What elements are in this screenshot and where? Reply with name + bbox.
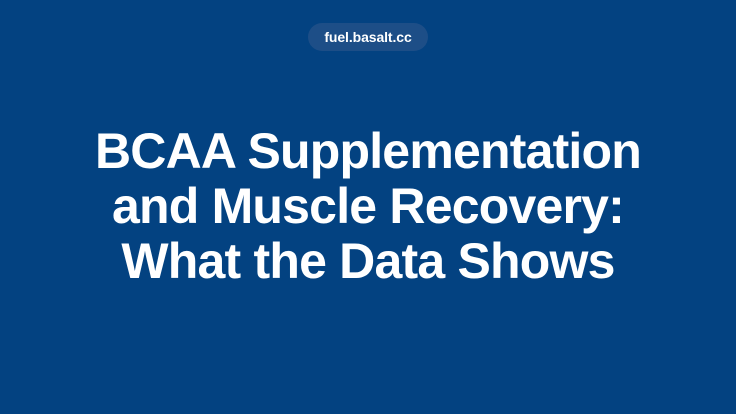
page-title-line-1: BCAA Supplementation: [88, 124, 648, 179]
page-title-line-2: and Muscle Recovery:: [88, 179, 648, 234]
headline-wrap: BCAA Supplementation and Muscle Recovery…: [0, 124, 736, 289]
badge-row: fuel.basalt.cc: [0, 23, 736, 51]
title-card: fuel.basalt.cc BCAA Supplementation and …: [0, 0, 736, 414]
source-domain-badge[interactable]: fuel.basalt.cc: [308, 23, 427, 51]
page-title: BCAA Supplementation and Muscle Recovery…: [88, 124, 648, 289]
page-title-line-3: What the Data Shows: [88, 234, 648, 289]
